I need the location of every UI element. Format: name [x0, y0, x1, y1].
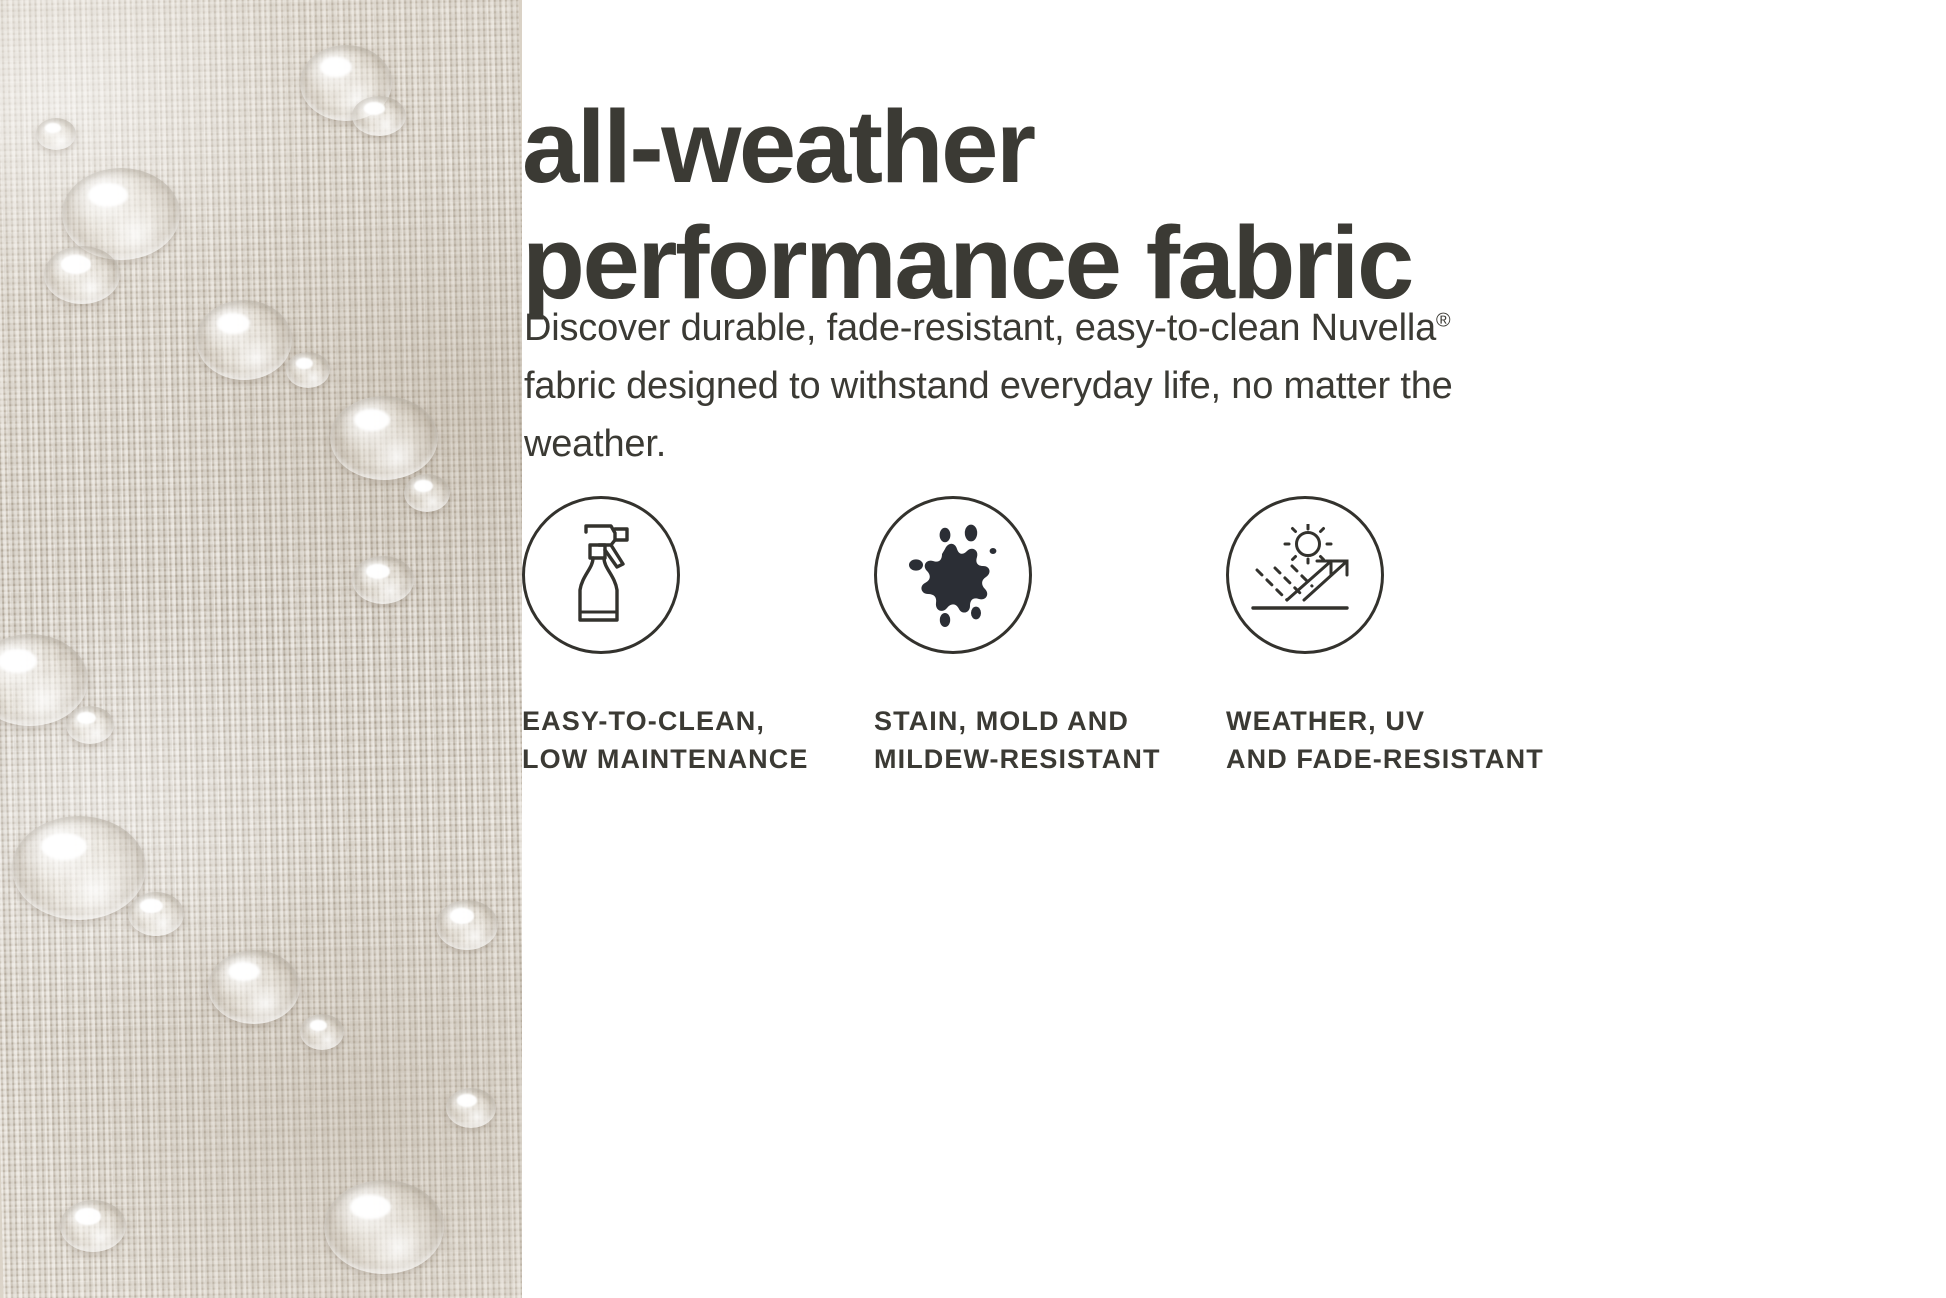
water-droplet [324, 1180, 444, 1274]
feature-item-stain-resistant: STAIN, MOLD AND MILDEW-RESISTANT [874, 496, 1226, 779]
water-droplet [286, 352, 330, 388]
water-droplet [196, 300, 292, 380]
feature-label: WEATHER, UV AND FADE-RESISTANT [1226, 702, 1578, 779]
feature-item-easy-to-clean: EASY-TO-CLEAN, LOW MAINTENANCE [522, 496, 874, 779]
water-droplet [300, 1014, 344, 1050]
feature-list: EASY-TO-CLEAN, LOW MAINTENANCE [522, 496, 1922, 779]
subcopy-line-2: fabric designed to withstand everyday li… [524, 365, 1221, 407]
feature-label: STAIN, MOLD AND MILDEW-RESISTANT [874, 702, 1226, 779]
subcopy-paragraph: Discover durable, fade-resistant, easy-t… [524, 300, 1504, 473]
water-droplet [404, 474, 450, 512]
feature-label: EASY-TO-CLEAN, LOW MAINTENANCE [522, 702, 874, 779]
water-droplet [208, 950, 300, 1024]
water-droplet [330, 396, 438, 480]
water-droplet [446, 1088, 496, 1128]
page-title: all-weather performance fabric [522, 89, 1922, 322]
all-weather-fabric-banner: all-weather performance fabric Discover … [0, 0, 1946, 1298]
stain-splatter-icon [874, 496, 1032, 654]
water-droplet [436, 900, 498, 950]
content-panel: all-weather performance fabric Discover … [522, 0, 1946, 1298]
water-droplet [352, 96, 406, 136]
water-droplet [12, 816, 146, 920]
fabric-photo-panel [0, 0, 522, 1298]
water-droplet [36, 118, 76, 150]
feature-item-uv-fade-resistant: WEATHER, UV AND FADE-RESISTANT [1226, 496, 1578, 779]
sun-uv-reflect-icon [1226, 496, 1384, 654]
spray-bottle-icon [522, 496, 680, 654]
subcopy-line-1: Discover durable, fade-resistant, easy-t… [524, 307, 1300, 349]
water-droplet [66, 706, 114, 744]
registered-trademark-symbol: ® [1436, 309, 1450, 331]
water-droplet [44, 246, 120, 304]
water-droplet [60, 1200, 126, 1252]
brand-name: Nuvella [1311, 307, 1436, 349]
water-droplet [128, 892, 184, 936]
water-droplet [352, 556, 414, 604]
